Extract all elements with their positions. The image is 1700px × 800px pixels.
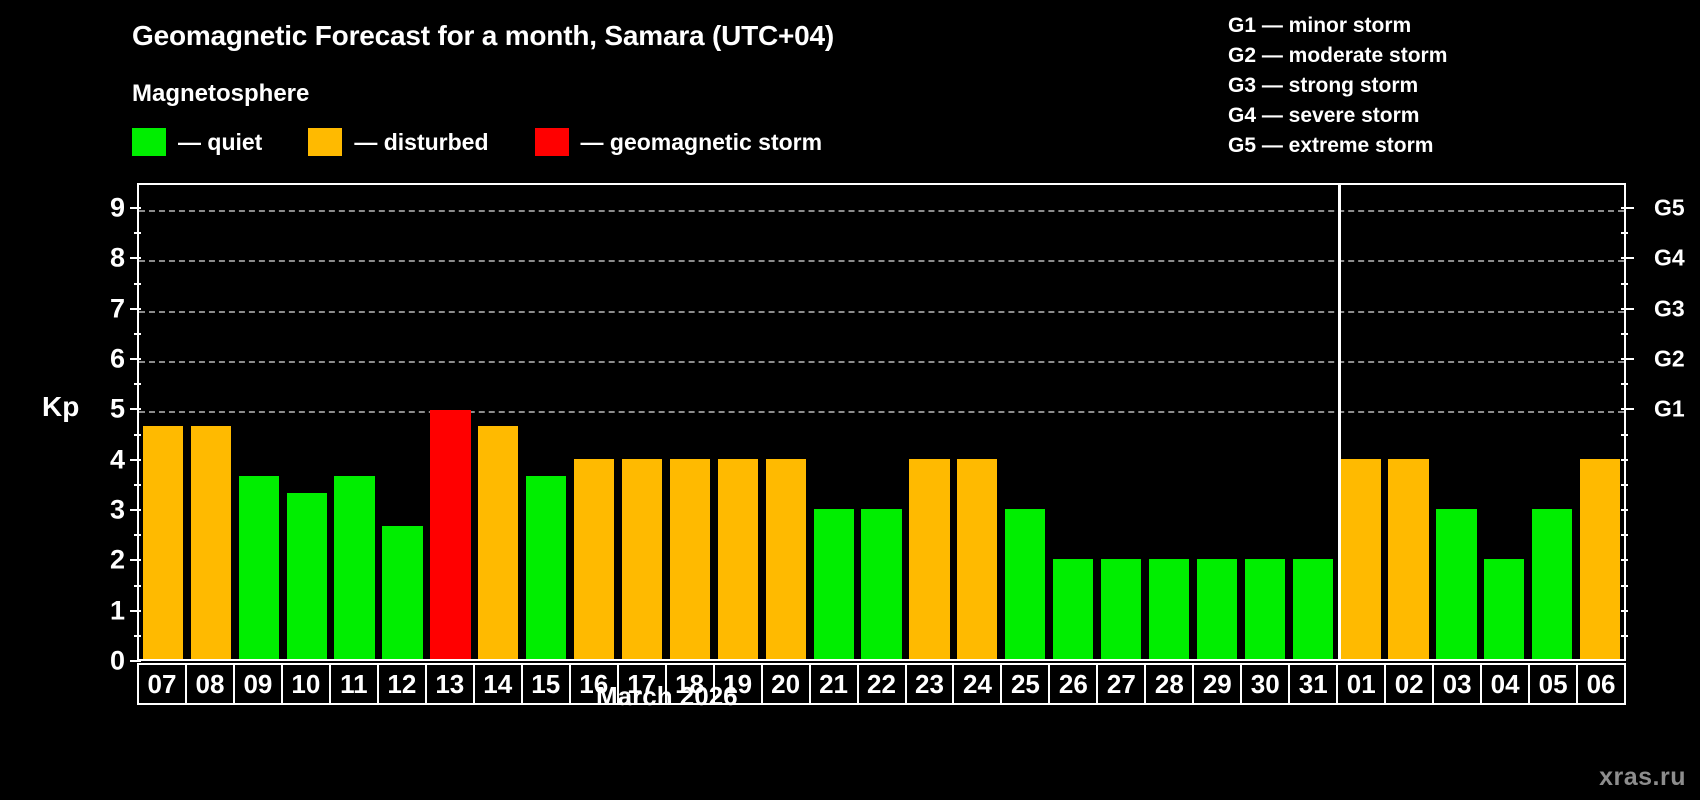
bar-slot	[1241, 185, 1289, 659]
bar-slot	[331, 185, 379, 659]
y-tick-mark	[130, 610, 141, 612]
day-label-11[interactable]: 11	[331, 665, 379, 703]
g-tick-label: G3	[1654, 295, 1685, 322]
bar-23[interactable]	[909, 459, 949, 659]
day-label-05[interactable]: 05	[1530, 665, 1578, 703]
bar-26[interactable]	[1053, 559, 1093, 659]
day-label-04[interactable]: 04	[1482, 665, 1530, 703]
g-scale-row: G1 — minor storm	[1228, 12, 1447, 41]
legend-label: — disturbed	[354, 129, 488, 156]
bar-slot	[1001, 185, 1049, 659]
y-tick-label: 9	[85, 193, 125, 224]
legend-entry: — disturbed	[308, 128, 534, 156]
bar-16[interactable]	[574, 459, 614, 659]
y-tick-mark	[130, 408, 141, 410]
bar-slot	[1193, 185, 1241, 659]
bar-slot	[1097, 185, 1145, 659]
bar-27[interactable]	[1101, 559, 1141, 659]
bar-slot	[1049, 185, 1097, 659]
bar-slot	[762, 185, 810, 659]
g-minor-tick-mark	[1621, 585, 1628, 587]
g-minor-tick-mark	[1621, 509, 1628, 511]
y-tick-label: 5	[85, 394, 125, 425]
bar-03[interactable]	[1436, 509, 1476, 659]
g-minor-tick-mark	[1621, 207, 1628, 209]
bar-07[interactable]	[143, 426, 183, 659]
bar-15[interactable]	[526, 476, 566, 659]
day-label-30[interactable]: 30	[1242, 665, 1290, 703]
g-minor-tick-mark	[1621, 484, 1628, 486]
g-minor-tick-mark	[1621, 283, 1628, 285]
y-minor-tick-mark	[134, 434, 141, 436]
g-minor-tick-mark	[1621, 358, 1628, 360]
y-minor-tick-mark	[134, 283, 141, 285]
day-label-01[interactable]: 01	[1338, 665, 1386, 703]
bar-17[interactable]	[622, 459, 662, 659]
y-tick-mark	[130, 207, 141, 209]
bar-slot	[474, 185, 522, 659]
bar-slot	[139, 185, 187, 659]
g-scale-row: G4 — severe storm	[1228, 102, 1447, 131]
day-label-28[interactable]: 28	[1146, 665, 1194, 703]
y-tick-label: 1	[85, 595, 125, 626]
bar-slot	[1289, 185, 1337, 659]
day-label-26[interactable]: 26	[1050, 665, 1098, 703]
day-label-31[interactable]: 31	[1290, 665, 1338, 703]
bar-30[interactable]	[1245, 559, 1285, 659]
magnetosphere-legend: — quiet— disturbed— geomagnetic storm	[132, 128, 868, 156]
bar-slot	[714, 185, 762, 659]
bar-slot	[953, 185, 1001, 659]
plot-area	[137, 183, 1626, 661]
watermark: xras.ru	[1599, 763, 1686, 792]
bar-slot	[810, 185, 858, 659]
g-minor-tick-mark	[1621, 559, 1628, 561]
disturbed-swatch	[308, 128, 342, 156]
y-minor-tick-mark	[134, 383, 141, 385]
y-tick-label: 0	[85, 646, 125, 677]
bar-18[interactable]	[670, 459, 710, 659]
bar-slot	[522, 185, 570, 659]
y-tick-label: 7	[85, 293, 125, 324]
day-label-08[interactable]: 08	[187, 665, 235, 703]
bar-slot	[906, 185, 954, 659]
y-tick-label: 8	[85, 243, 125, 274]
day-label-27[interactable]: 27	[1098, 665, 1146, 703]
g-minor-tick-mark	[1621, 257, 1628, 259]
page-title: Geomagnetic Forecast for a month, Samara…	[132, 20, 834, 52]
bar-24[interactable]	[957, 459, 997, 659]
g-tick-label: G5	[1654, 195, 1685, 222]
day-label-09[interactable]: 09	[235, 665, 283, 703]
bar-slot	[1528, 185, 1576, 659]
bar-01[interactable]	[1340, 459, 1380, 659]
g-scale-legend: G1 — minor stormG2 — moderate stormG3 — …	[1228, 12, 1447, 161]
bar-02[interactable]	[1388, 459, 1428, 659]
day-label-29[interactable]: 29	[1194, 665, 1242, 703]
g-minor-tick-mark	[1621, 459, 1628, 461]
bar-19[interactable]	[718, 459, 758, 659]
y-minor-tick-mark	[134, 232, 141, 234]
bar-08[interactable]	[191, 426, 231, 659]
g-scale-row: G3 — strong storm	[1228, 72, 1447, 101]
bar-slot	[858, 185, 906, 659]
bar-11[interactable]	[334, 476, 374, 659]
bar-slot	[187, 185, 235, 659]
day-label-10[interactable]: 10	[283, 665, 331, 703]
bar-06[interactable]	[1580, 459, 1620, 659]
bar-slot	[426, 185, 474, 659]
bar-slot	[618, 185, 666, 659]
y-tick-mark	[130, 257, 141, 259]
legend-label: — quiet	[178, 129, 262, 156]
day-label-25[interactable]: 25	[1002, 665, 1050, 703]
g-minor-tick-mark	[1621, 635, 1628, 637]
bar-12[interactable]	[382, 526, 422, 659]
y-axis-title: Kp	[42, 391, 79, 423]
bar-22[interactable]	[861, 509, 901, 659]
day-label-13[interactable]: 13	[427, 665, 475, 703]
y-minor-tick-mark	[134, 534, 141, 536]
y-minor-tick-mark	[134, 484, 141, 486]
bar-slot	[1385, 185, 1433, 659]
bar-28[interactable]	[1149, 559, 1189, 659]
y-tick-label: 3	[85, 495, 125, 526]
g-minor-tick-mark	[1621, 534, 1628, 536]
bar-slot	[379, 185, 427, 659]
bars-layer	[139, 185, 1624, 659]
bar-slot	[570, 185, 618, 659]
quiet-swatch	[132, 128, 166, 156]
day-label-06[interactable]: 06	[1578, 665, 1624, 703]
g-scale-row: G5 — extreme storm	[1228, 132, 1447, 161]
x-axis-title: March 2026	[596, 681, 996, 712]
y-tick-label: 6	[85, 344, 125, 375]
y-tick-mark	[130, 559, 141, 561]
y-tick-mark	[130, 308, 141, 310]
bar-slot	[1576, 185, 1624, 659]
legend-label: — geomagnetic storm	[581, 129, 823, 156]
day-label-03[interactable]: 03	[1434, 665, 1482, 703]
g-tick-label: G2	[1654, 346, 1685, 373]
g-minor-tick-mark	[1621, 232, 1628, 234]
bar-05[interactable]	[1532, 509, 1572, 659]
day-label-15[interactable]: 15	[523, 665, 571, 703]
g-tick-label: G4	[1654, 245, 1685, 272]
day-label-12[interactable]: 12	[379, 665, 427, 703]
bar-04[interactable]	[1484, 559, 1524, 659]
day-label-07[interactable]: 07	[139, 665, 187, 703]
g-minor-tick-mark	[1621, 610, 1628, 612]
bar-14[interactable]	[478, 426, 518, 659]
storm-swatch	[535, 128, 569, 156]
bar-slot	[1432, 185, 1480, 659]
y-tick-mark	[130, 660, 141, 662]
y-tick-mark	[130, 358, 141, 360]
y-tick-mark	[130, 509, 141, 511]
bar-09[interactable]	[239, 476, 279, 659]
y-minor-tick-mark	[134, 333, 141, 335]
forecast-separator-line	[1338, 185, 1341, 659]
legend-entry: — geomagnetic storm	[535, 128, 869, 156]
bar-29[interactable]	[1197, 559, 1237, 659]
g-scale-row: G2 — moderate storm	[1228, 42, 1447, 71]
y-minor-tick-mark	[134, 635, 141, 637]
g-minor-tick-mark	[1621, 408, 1628, 410]
magnetosphere-heading: Magnetosphere	[132, 80, 309, 108]
bar-21[interactable]	[814, 509, 854, 659]
y-tick-label: 4	[85, 444, 125, 475]
legend-entry: — quiet	[132, 128, 308, 156]
bar-31[interactable]	[1293, 559, 1333, 659]
bar-slot	[666, 185, 714, 659]
g-minor-tick-mark	[1621, 308, 1628, 310]
bar-13[interactable]	[430, 410, 470, 659]
g-minor-tick-mark	[1621, 333, 1628, 335]
bar-20[interactable]	[766, 459, 806, 659]
day-label-14[interactable]: 14	[475, 665, 523, 703]
bar-slot	[1337, 185, 1385, 659]
plot-wrapper	[137, 183, 1626, 661]
g-tick-label: G1	[1654, 396, 1685, 423]
bar-25[interactable]	[1005, 509, 1045, 659]
bar-slot	[283, 185, 331, 659]
bar-slot	[1480, 185, 1528, 659]
g-minor-tick-mark	[1621, 383, 1628, 385]
day-label-02[interactable]: 02	[1386, 665, 1434, 703]
bar-10[interactable]	[287, 493, 327, 659]
y-tick-mark	[130, 459, 141, 461]
bar-slot	[1145, 185, 1193, 659]
bar-slot	[235, 185, 283, 659]
y-tick-label: 2	[85, 545, 125, 576]
y-minor-tick-mark	[134, 585, 141, 587]
g-minor-tick-mark	[1621, 434, 1628, 436]
